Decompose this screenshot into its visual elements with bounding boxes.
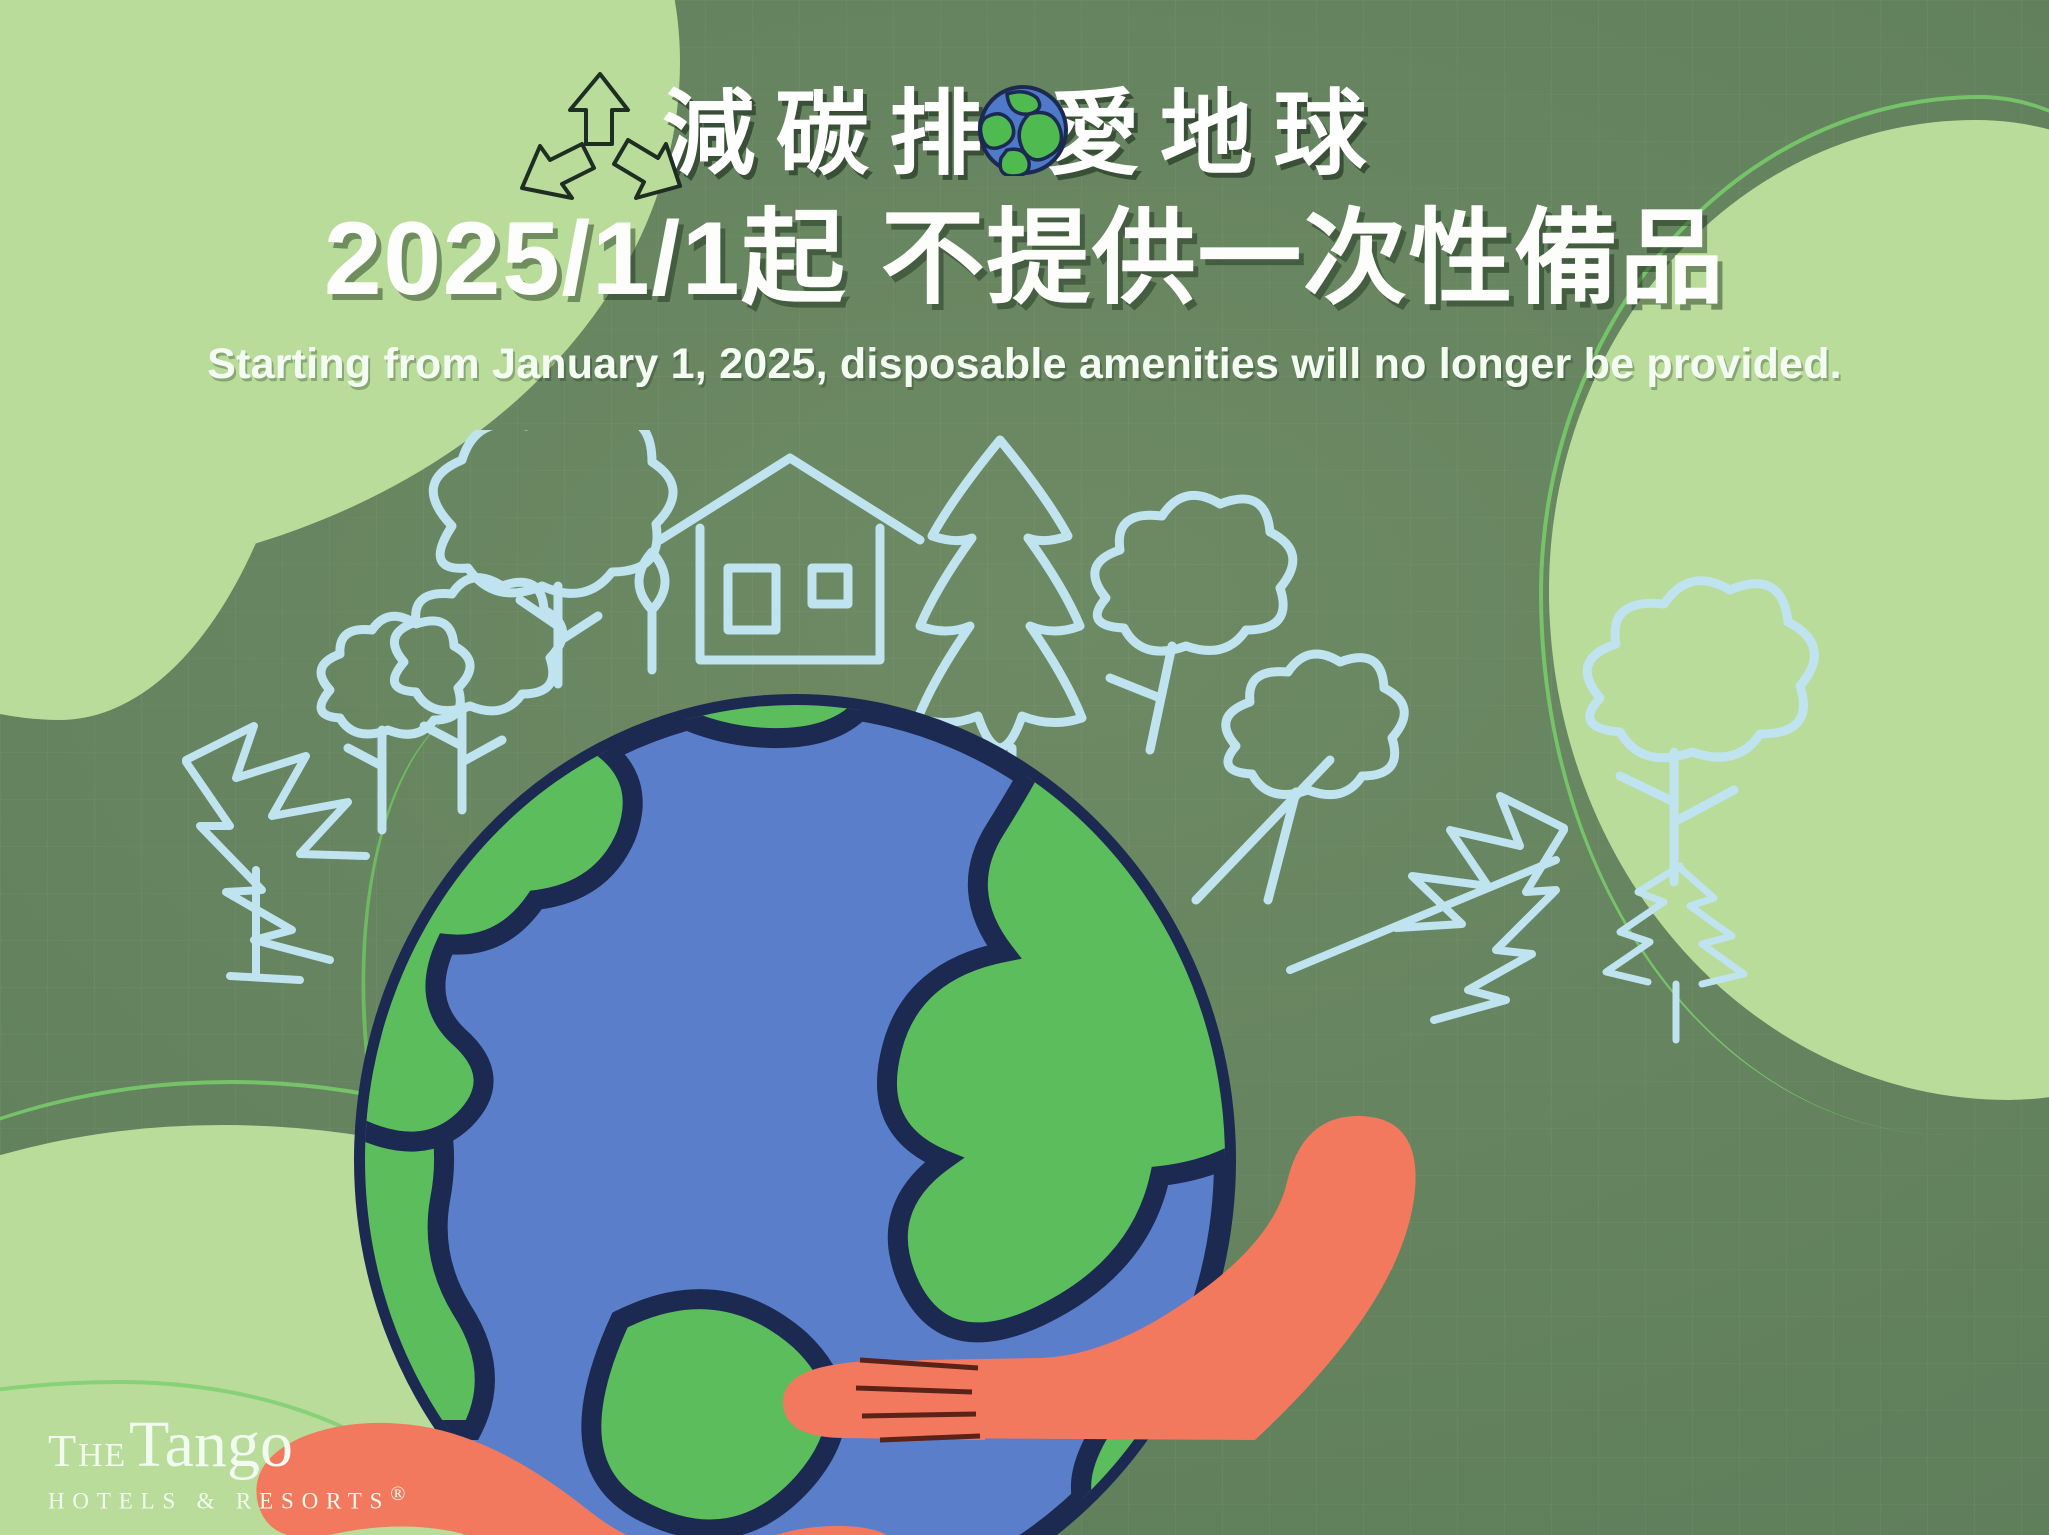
tree-spiky-right [1396, 796, 1564, 1020]
effective-date: 2025/1/1起 [324, 201, 847, 317]
tree-broccoli-right [1095, 495, 1293, 750]
title-char-1: 減 [662, 88, 775, 181]
registered-trademark-icon: ® [390, 1483, 405, 1505]
policy-statement-cn: 不提供一次性備品 [881, 201, 1725, 317]
earth-hug-illustration [0, 430, 2049, 1535]
brand-logo-the: THE [48, 1425, 127, 1476]
house-line-icon [660, 458, 920, 660]
tree-spiky-bottom-right [1606, 866, 1744, 1040]
brand-logo-name: THETango [48, 1412, 405, 1478]
brand-logo: THETango HOTELS & RESORTS® [48, 1412, 405, 1513]
page-subtitle-cn: 2025/1/1起不提供一次性備品 [0, 205, 2049, 314]
title-char-4: 愛 [1047, 88, 1160, 181]
title-char-6: 球 [1273, 88, 1386, 181]
page-title-cn: 減碳排愛地球 [495, 88, 1555, 181]
headline-group: 減碳排愛地球 2025/1/1起不提供一次性備品 Starting from J… [0, 0, 2049, 389]
brand-logo-tagline: HOTELS & RESORTS® [48, 1484, 405, 1513]
title-char-5: 地 [1160, 88, 1273, 181]
tree-spiky-left [186, 726, 366, 980]
earth-globe [256, 649, 1415, 1535]
title-char-3: 排 [889, 88, 1002, 181]
hand-upper [783, 1360, 985, 1440]
tree-broccoli-far-right [1587, 581, 1814, 882]
title-char-2: 碳 [776, 88, 889, 181]
brand-logo-tango: Tango [129, 1408, 293, 1481]
eco-announcement-poster: 減碳排愛地球 2025/1/1起不提供一次性備品 Starting from J… [0, 0, 2049, 1535]
policy-statement-en: Starting from January 1, 2025, disposabl… [0, 340, 2049, 389]
